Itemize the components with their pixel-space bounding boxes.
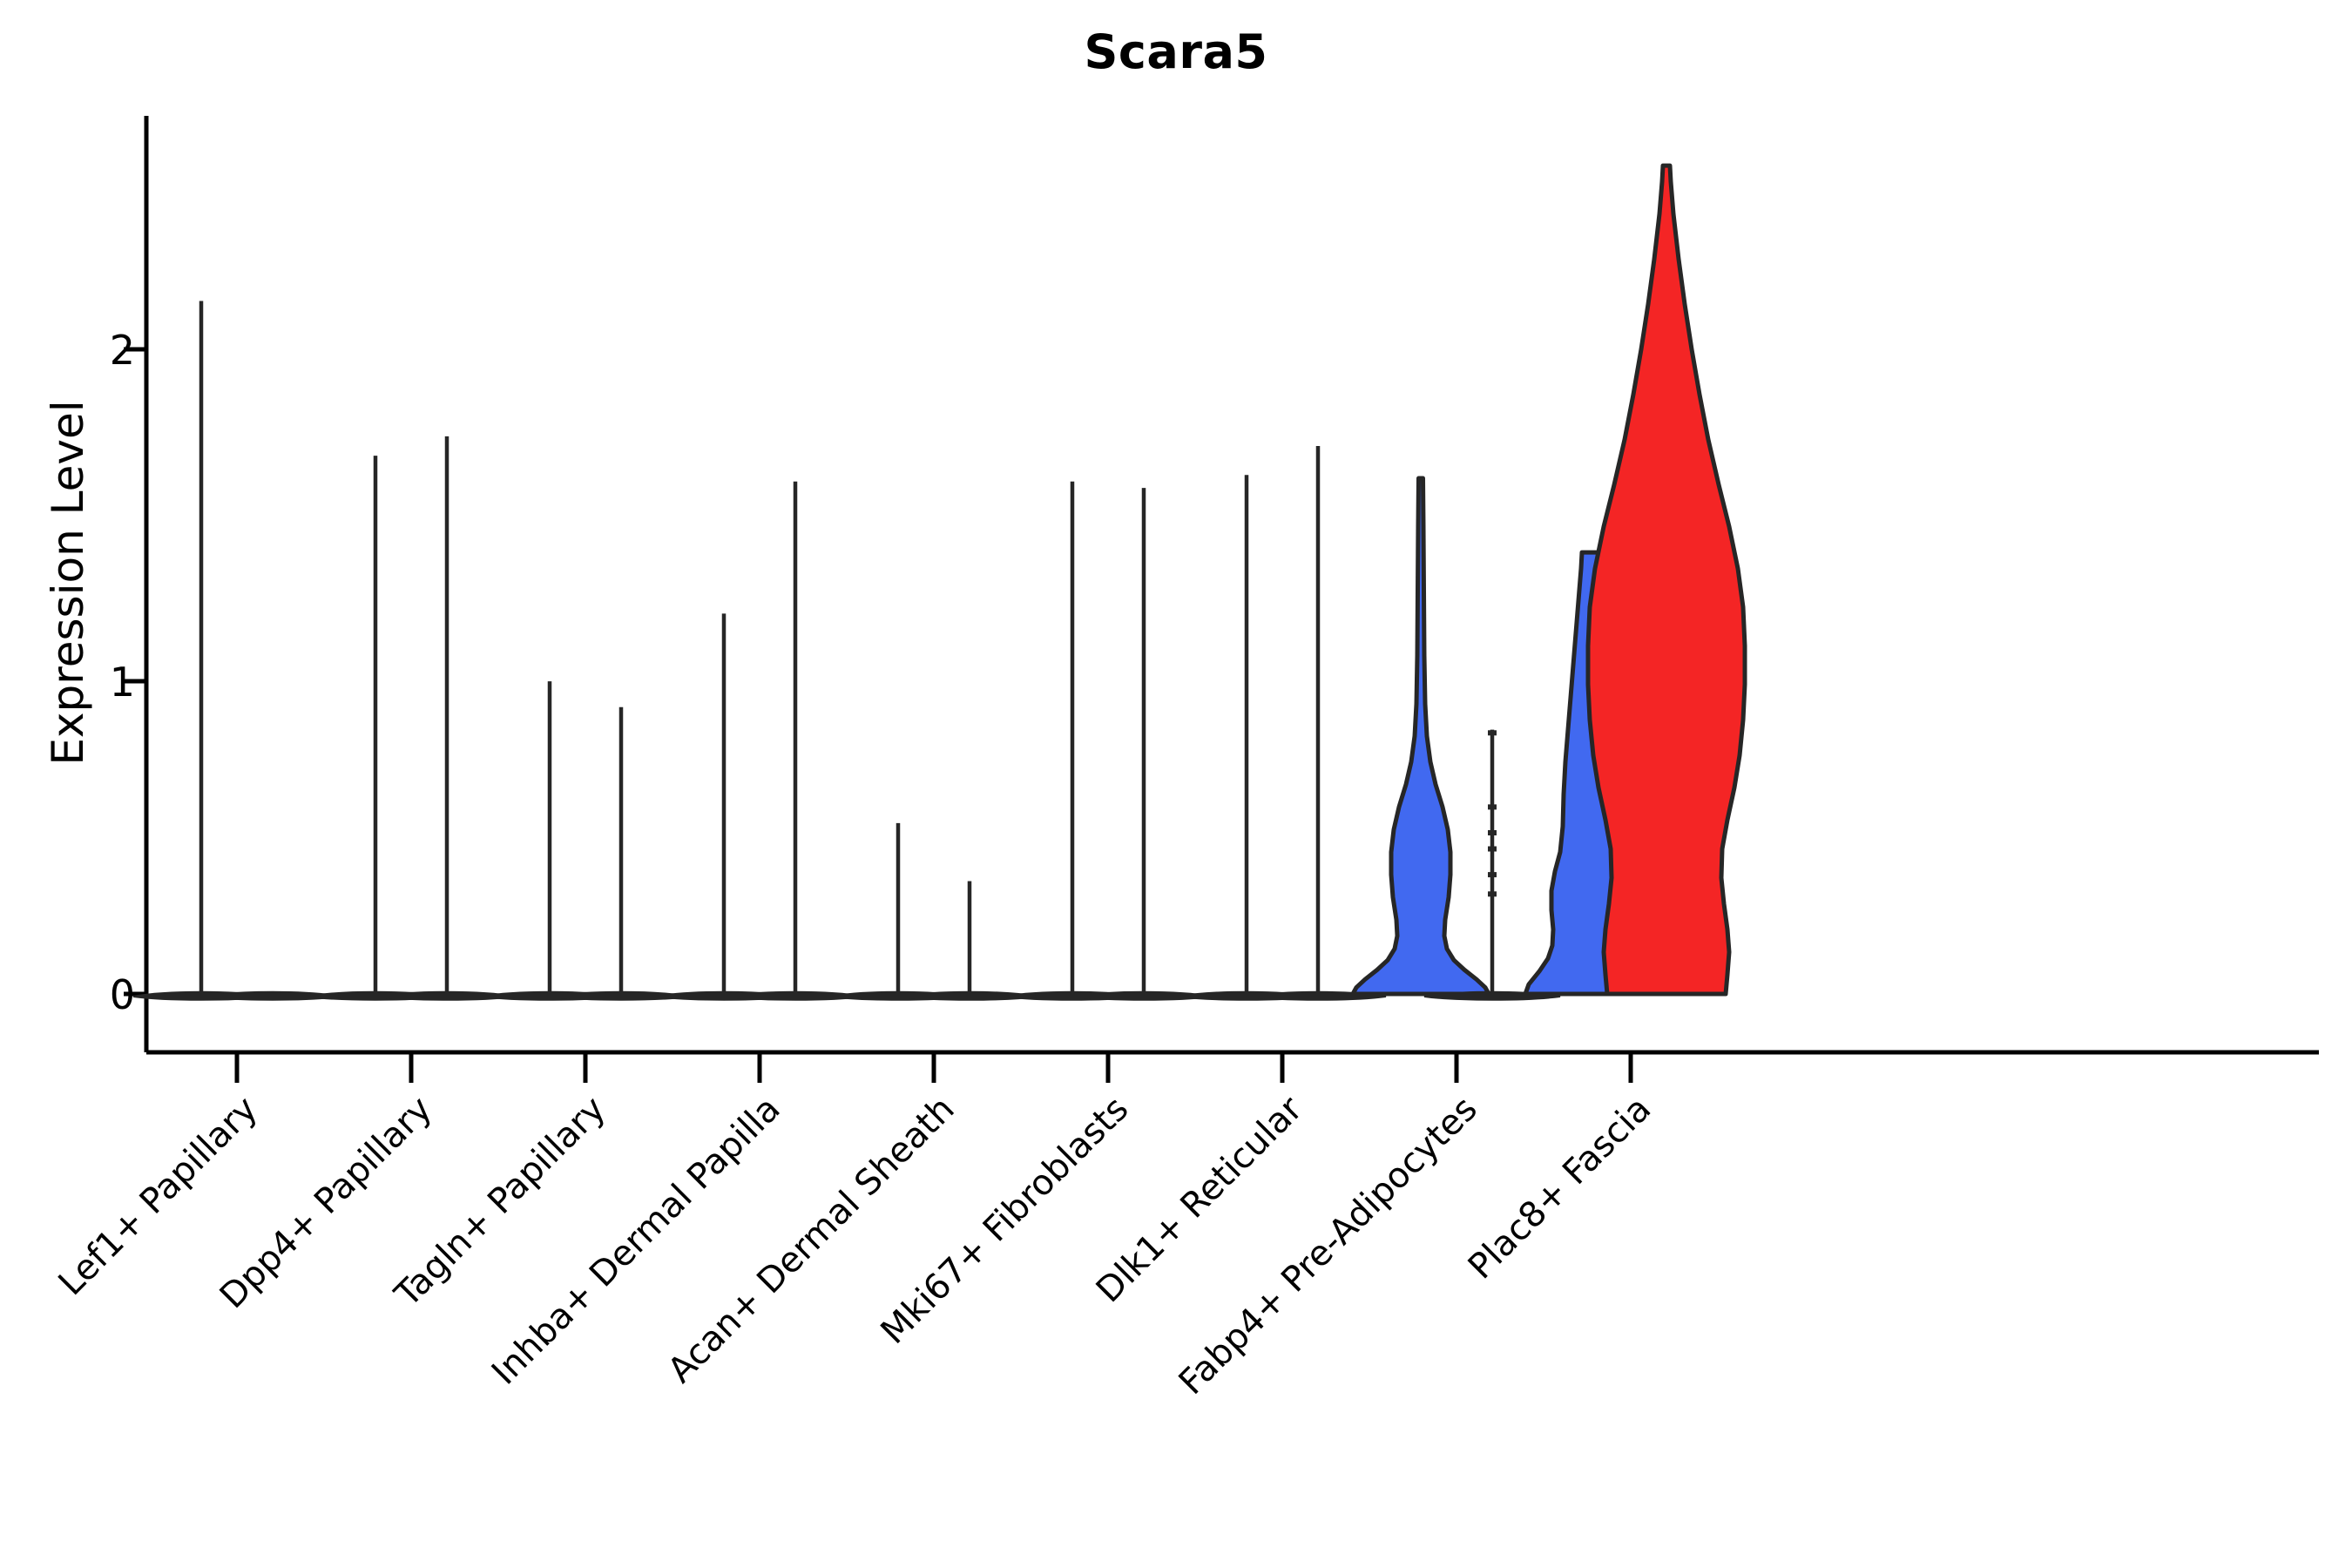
violin-body [1353,478,1489,994]
violin-baseline [205,992,341,1000]
violin-data-point-5 [1488,891,1497,896]
violin-plot-figure: Scara5 Expression Level 2 1 0 Lef1+ Papi… [0,0,2352,1568]
violin-group-1-7 [1353,478,1489,994]
violin-group-2-6 [1250,446,1386,1000]
violin-data-point-4 [1488,872,1497,877]
violin-group-2-5 [1076,488,1212,1000]
plot-canvas [0,0,2352,1568]
violin-group-2-1 [379,436,515,1000]
violin-data-point-1 [1488,804,1497,809]
violin-data-point-3 [1488,847,1497,852]
violin-group-2-2 [553,707,689,1000]
violin-group-1-3 [656,613,792,999]
violin-group-1-2 [482,681,618,1000]
violin-group-1-5 [1004,482,1140,1000]
violin-group-2-8 [1588,166,1745,994]
violin-group-2-3 [727,482,863,1000]
violin-group-1-1 [308,456,443,1000]
violin-group-1-4 [830,823,966,1000]
violin-group-1-0 [133,301,269,1000]
violin-data-point-0 [1488,730,1497,735]
violin-series-group [133,166,1745,1000]
violin-group-2-0 [205,992,341,1000]
violin-data-point-2 [1488,830,1497,835]
violin-group-2-4 [902,882,1037,1000]
violin-body [1588,166,1745,994]
violin-group-1-6 [1179,475,1315,999]
